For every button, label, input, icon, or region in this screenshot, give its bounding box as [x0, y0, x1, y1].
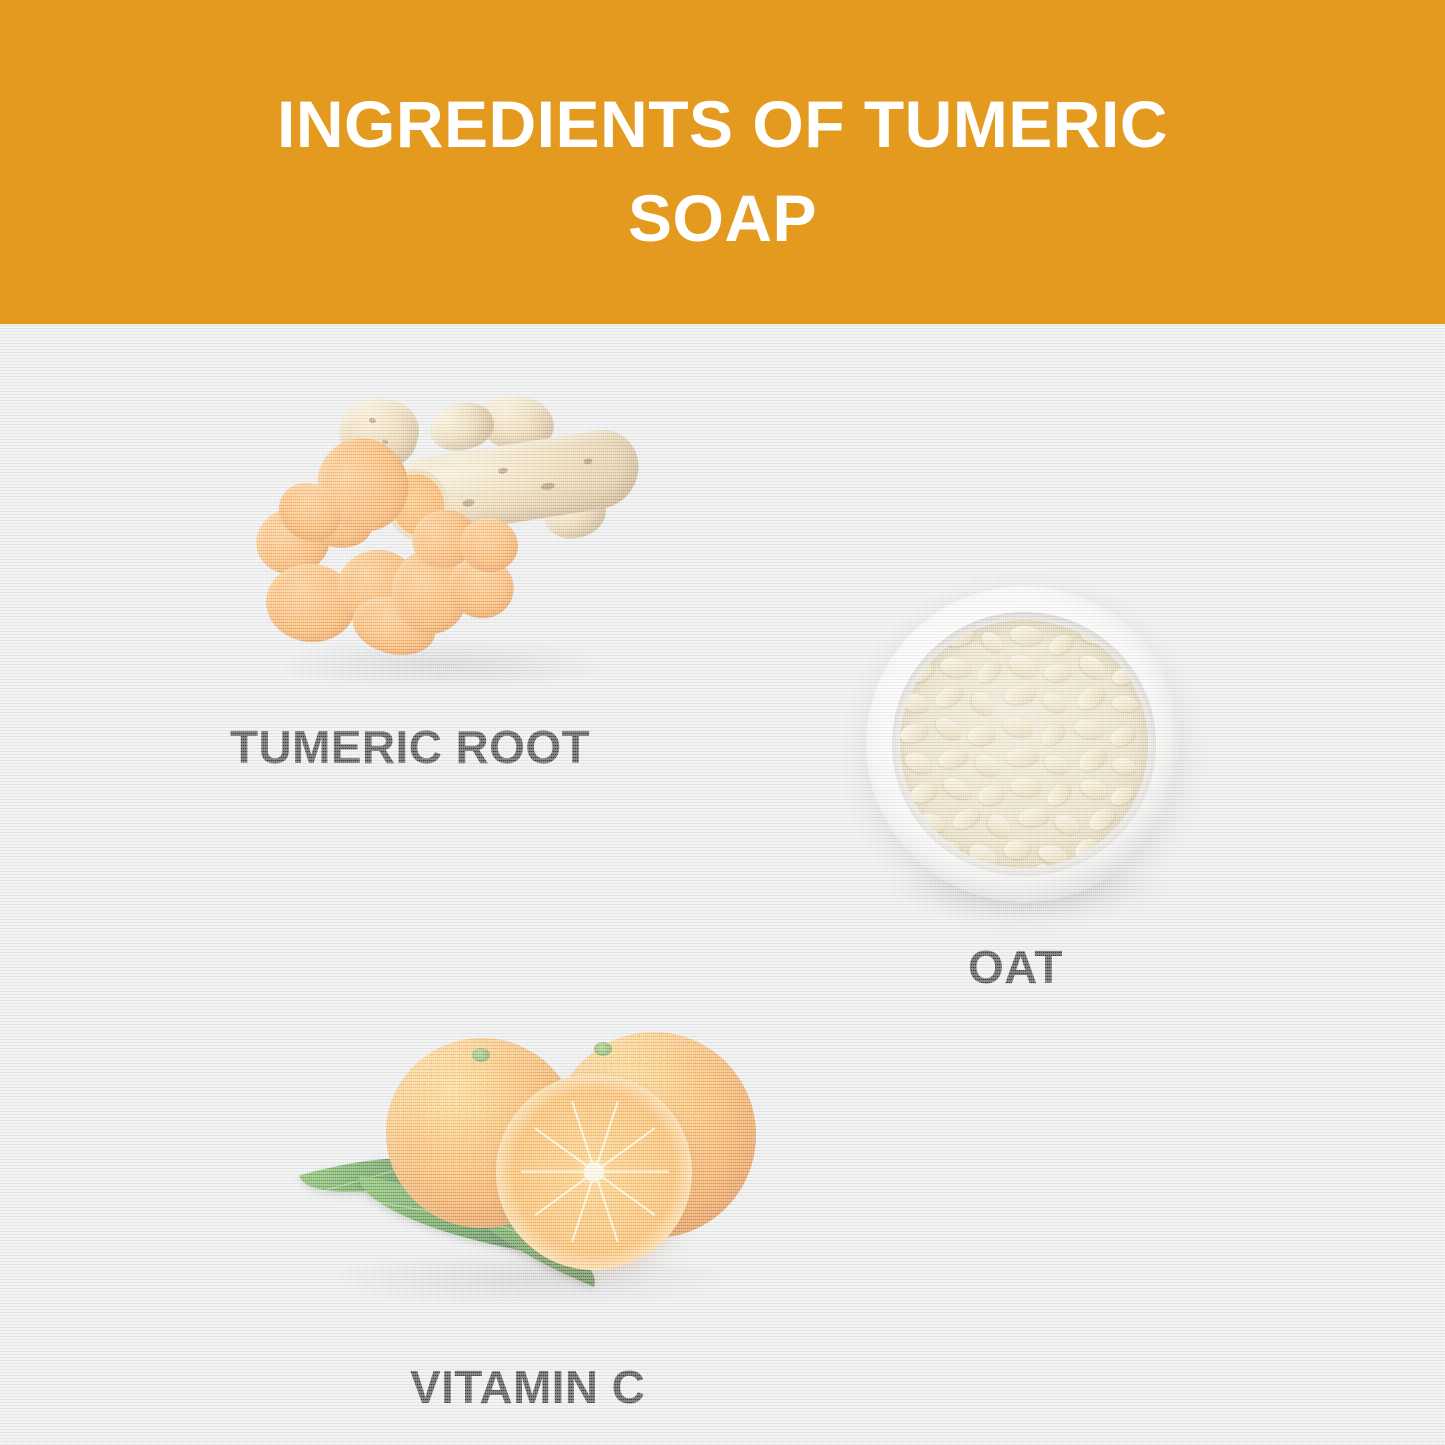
bowl-interior — [900, 620, 1148, 868]
page-title: INGREDIENTS OF TUMERIC SOAP — [0, 78, 1445, 265]
ingredient-label-oat: OAT — [968, 940, 1063, 994]
header-banner: INGREDIENTS OF TUMERIC SOAP — [0, 0, 1445, 324]
tumeric-root-photo — [252, 392, 652, 682]
ingredient-label-vitamin-c: VITAMIN C — [410, 1360, 645, 1414]
ingredients-poster: INGREDIENTS OF TUMERIC SOAP — [0, 0, 1445, 1445]
oat-bowl-photo — [866, 586, 1182, 902]
orange-stem — [472, 1048, 490, 1062]
ingredient-label-tumeric-root: TUMERIC ROOT — [230, 720, 590, 774]
orange-stem — [594, 1042, 612, 1056]
orange-fruit-photo — [300, 1026, 770, 1296]
